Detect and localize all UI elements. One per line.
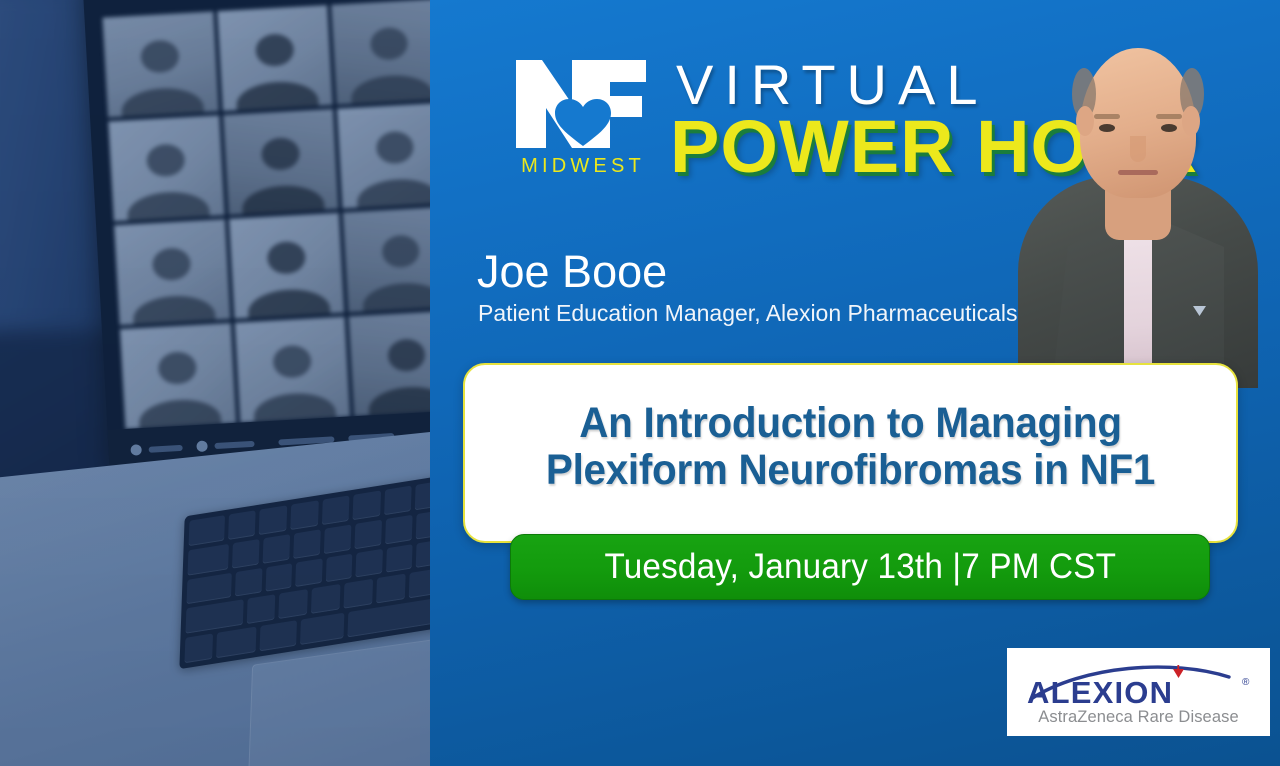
svg-text:MIDWEST: MIDWEST <box>521 155 645 177</box>
sponsor-logo-alexion: ALEXION ® AstraZeneca Rare Disease <box>1007 648 1270 736</box>
content-panel: MIDWEST VIRTUAL POWER HOUR Jo <box>430 0 1280 766</box>
session-date-time: Tuesday, January 13th |7 PM CST <box>604 547 1116 587</box>
sponsor-tagline: AstraZeneca Rare Disease <box>1038 709 1239 726</box>
webinar-promo-poster: MIDWEST VIRTUAL POWER HOUR Jo <box>0 0 1280 766</box>
headshot-brow-right <box>1156 114 1182 119</box>
session-title: An Introduction to Managing Plexiform Ne… <box>509 400 1192 495</box>
laptop-video-call-photo <box>0 0 430 766</box>
svg-text:®: ® <box>1242 677 1250 688</box>
headshot-ear-right <box>1182 106 1200 136</box>
speaker-role: Patient Education Manager, Alexion Pharm… <box>478 302 1018 325</box>
speaker-name: Joe Booe <box>477 249 667 294</box>
session-title-card: An Introduction to Managing Plexiform Ne… <box>463 363 1238 543</box>
nf-heart-logo: MIDWEST <box>512 52 654 177</box>
headshot-eye-right <box>1161 124 1177 132</box>
headshot-eye-left <box>1099 124 1115 132</box>
headshot-ear-left <box>1076 106 1094 136</box>
headshot-nose <box>1130 136 1146 162</box>
headshot-mouth <box>1118 170 1158 175</box>
session-date-banner: Tuesday, January 13th |7 PM CST <box>510 534 1210 600</box>
presenter-headshot <box>1008 10 1268 388</box>
headshot-face <box>1080 48 1196 198</box>
photo-duotone-overlay-2 <box>0 0 430 766</box>
headshot-brow-left <box>1094 114 1120 119</box>
alexion-wordmark-icon: ALEXION ® <box>1023 663 1255 707</box>
svg-text:ALEXION: ALEXION <box>1027 675 1173 707</box>
